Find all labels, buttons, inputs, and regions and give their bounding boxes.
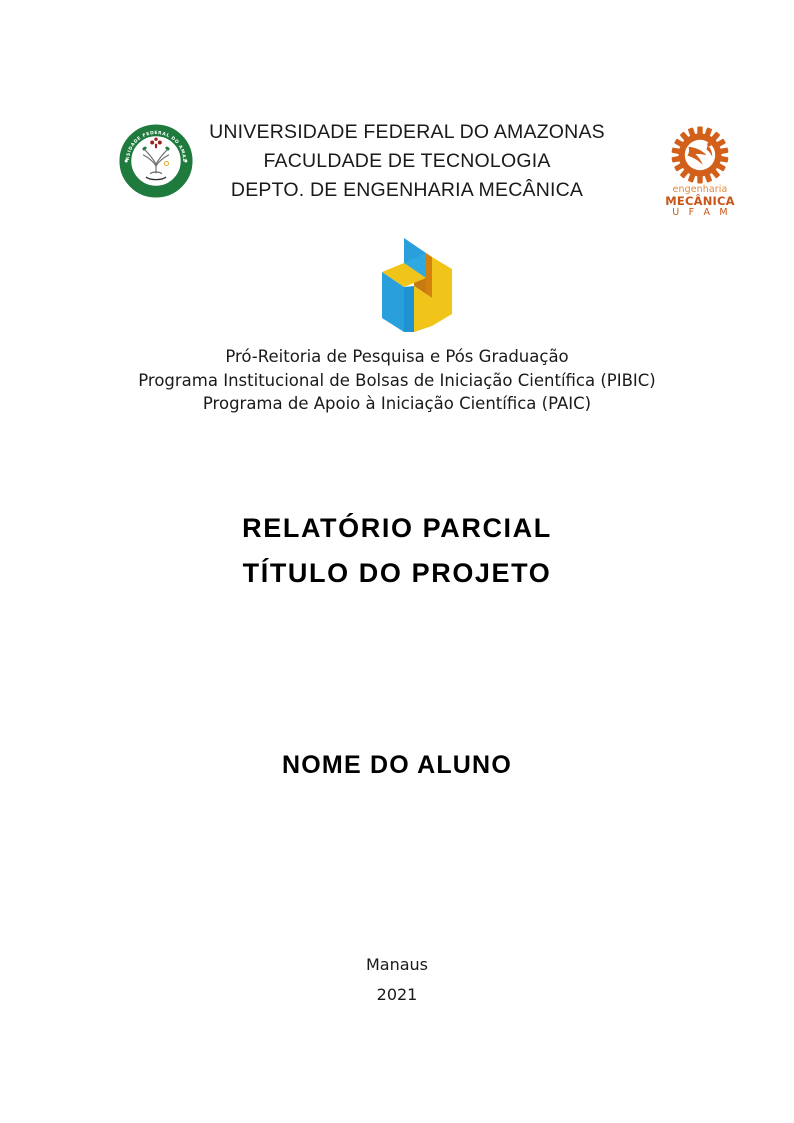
project-title: TÍTULO DO PROJETO <box>0 551 794 596</box>
program-subtitle-block: Pró-Reitoria de Pesquisa e Pós Graduação… <box>0 345 794 416</box>
gear-icon <box>669 126 731 184</box>
institution-heading: UNIVERSIDADE FEDERAL DO AMAZONAS FACULDA… <box>197 118 617 205</box>
propesp-logo-icon <box>374 236 460 336</box>
footer-year: 2021 <box>0 980 794 1010</box>
eng-logo-word-ufam: U F A M <box>661 207 739 218</box>
cover-page: UNIVERSIDADE FEDERAL DO AMAZONAS IN LUMI… <box>0 0 794 1123</box>
engenharia-mecanica-logo: engenharia MECÂNICA U F A M <box>661 126 739 218</box>
footer-city: Manaus <box>0 950 794 980</box>
eng-logo-word-mecanica: MECÂNICA <box>661 195 739 207</box>
institution-line-3: DEPTO. DE ENGENHARIA MECÂNICA <box>197 176 617 205</box>
page-title: RELATÓRIO PARCIAL TÍTULO DO PROJETO <box>0 506 794 596</box>
program-line-1: Pró-Reitoria de Pesquisa e Pós Graduação <box>0 345 794 369</box>
footer-block: Manaus 2021 <box>0 950 794 1010</box>
institution-line-1: UNIVERSIDADE FEDERAL DO AMAZONAS <box>197 118 617 147</box>
program-line-3: Programa de Apoio à Iniciação Científica… <box>0 392 794 416</box>
program-line-2: Programa Institucional de Bolsas de Inic… <box>0 369 794 393</box>
report-type-title: RELATÓRIO PARCIAL <box>0 506 794 551</box>
author-name: NOME DO ALUNO <box>0 748 794 782</box>
propesp-logo <box>374 236 460 336</box>
institution-line-2: FACULDADE DE TECNOLOGIA <box>197 147 617 176</box>
